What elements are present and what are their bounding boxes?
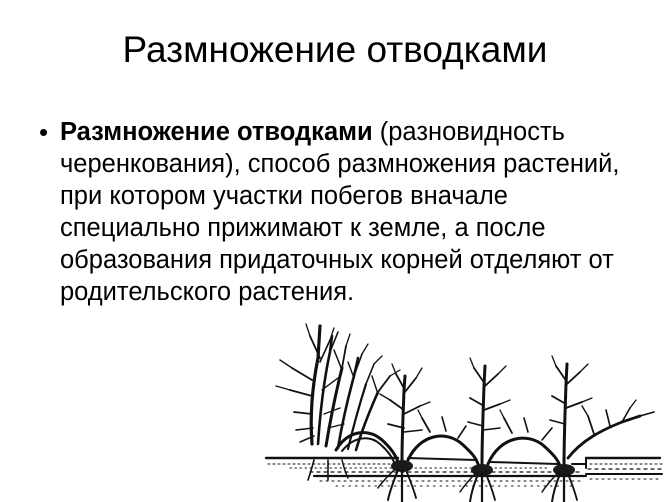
arching-shoot [408,410,478,464]
bullet-rest: (разновидность черенкования), способ раз… [60,118,620,306]
slide: Размножение отводками • Размножение отво… [0,0,670,502]
arching-shoot [568,400,654,458]
body-text-block: • Размножение отводками (разновидность ч… [36,116,636,308]
soil-line [266,458,662,486]
bullet-paragraph: Размножение отводками (разновидность чер… [60,116,636,308]
page-title: Размножение отводками [0,30,670,71]
rooted-layer [468,358,510,464]
arching-shoot [488,410,560,466]
plant-layering-illustration [250,318,670,502]
layering-diagram-svg [250,318,670,502]
bullet-lead-bold: Размножение отводками [60,118,373,146]
bullet-marker: • [36,116,60,148]
parent-shrub [276,324,400,450]
list-item: • Размножение отводками (разновидность ч… [36,116,636,308]
